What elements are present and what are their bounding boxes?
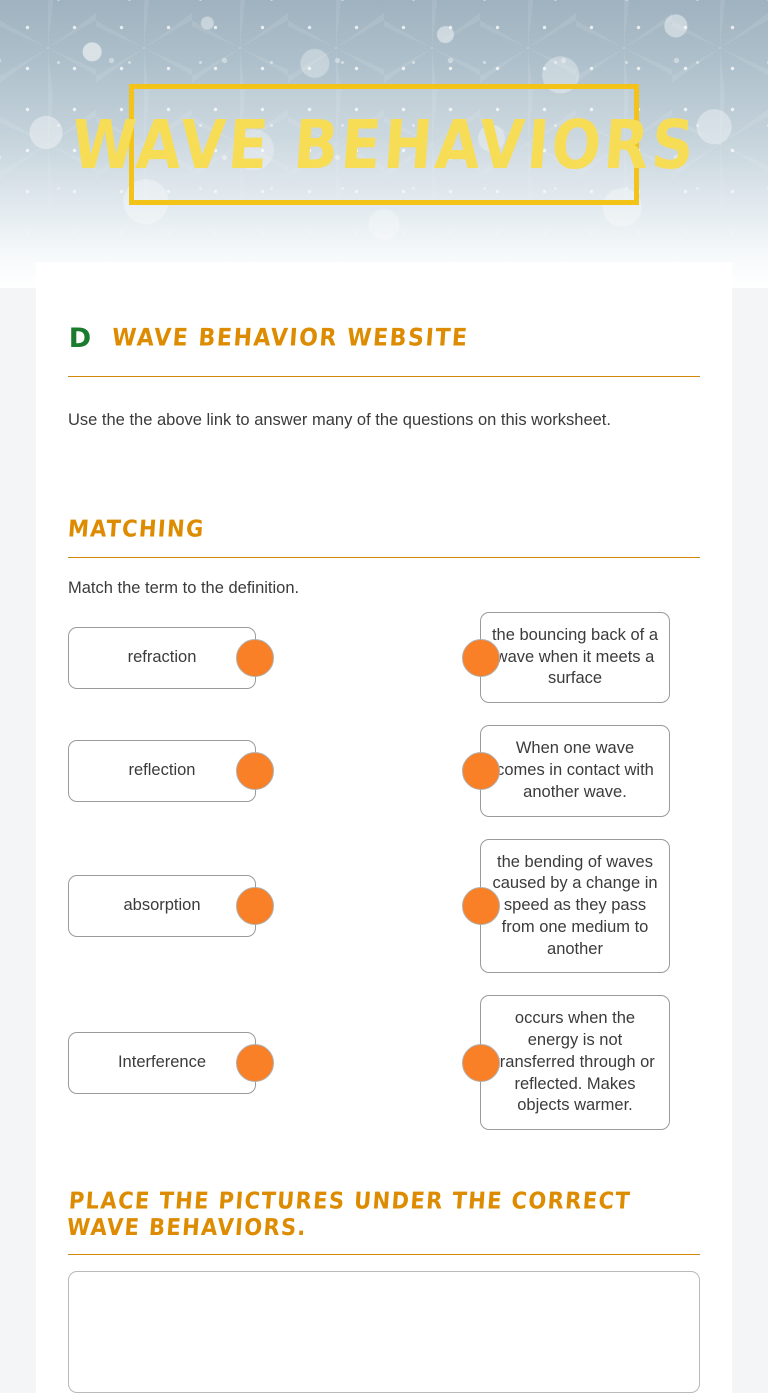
- term-card[interactable]: refraction: [68, 627, 256, 689]
- definition-column: the bending of waves caused by a change …: [480, 839, 700, 974]
- resource-link-divider: [68, 376, 700, 377]
- term-connector-dot[interactable]: [236, 1044, 274, 1082]
- term-connector-dot[interactable]: [236, 639, 274, 677]
- matching-row: reflection When one wave comes in contac…: [68, 725, 700, 816]
- definition-card[interactable]: occurs when the energy is not transferre…: [480, 995, 670, 1130]
- definition-text: the bouncing back of a wave when it meet…: [491, 625, 659, 690]
- term-column: absorption: [68, 875, 368, 937]
- term-label: refraction: [128, 648, 197, 667]
- definition-column: the bouncing back of a wave when it meet…: [480, 612, 700, 703]
- matching-heading: Matching: [67, 516, 701, 542]
- definition-connector-dot[interactable]: [462, 639, 500, 677]
- definition-column: occurs when the energy is not transferre…: [480, 995, 700, 1130]
- term-column: reflection: [68, 740, 368, 802]
- term-column: Interference: [68, 1032, 368, 1094]
- resource-instruction-text: Use the the above link to answer many of…: [68, 409, 700, 433]
- hero-header: Wave Behaviors: [0, 0, 768, 288]
- term-connector-dot[interactable]: [236, 752, 274, 790]
- definition-text: occurs when the energy is not transferre…: [491, 1008, 659, 1117]
- definition-connector-dot[interactable]: [462, 1044, 500, 1082]
- resource-link-title[interactable]: Wave Behavior Website: [111, 324, 469, 352]
- definition-connector-dot[interactable]: [462, 752, 500, 790]
- resource-link-row[interactable]: D Wave Behavior Website: [68, 262, 700, 352]
- definition-connector-dot[interactable]: [462, 887, 500, 925]
- matching-row: absorption the bending of waves caused b…: [68, 839, 700, 974]
- definition-column: When one wave comes in contact with anot…: [480, 725, 700, 816]
- doc-icon-letter: D: [69, 325, 91, 352]
- matching-row: refraction the bouncing back of a wave w…: [68, 612, 700, 703]
- matching-section: Matching Match the term to the definitio…: [68, 517, 700, 1130]
- term-card[interactable]: absorption: [68, 875, 256, 937]
- definition-card[interactable]: the bouncing back of a wave when it meet…: [480, 612, 670, 703]
- definition-card[interactable]: the bending of waves caused by a change …: [480, 839, 670, 974]
- matching-grid: refraction the bouncing back of a wave w…: [68, 612, 700, 1130]
- matching-divider: [68, 557, 700, 558]
- term-card[interactable]: reflection: [68, 740, 256, 802]
- matching-row: Interference occurs when the energy is n…: [68, 995, 700, 1130]
- definition-text: the bending of waves caused by a change …: [491, 852, 659, 961]
- worksheet-title-frame: Wave Behaviors: [129, 84, 639, 205]
- definition-card[interactable]: When one wave comes in contact with anot…: [480, 725, 670, 816]
- term-label: absorption: [123, 896, 200, 915]
- picture-drop-area[interactable]: [68, 1271, 700, 1393]
- pictures-divider: [68, 1254, 700, 1255]
- term-label: Interference: [118, 1053, 206, 1072]
- term-card[interactable]: Interference: [68, 1032, 256, 1094]
- worksheet-sheet: D Wave Behavior Website Use the the abov…: [36, 262, 732, 1393]
- worksheet-title: Wave Behaviors: [69, 111, 698, 178]
- pictures-section: Place the pictures under the correct wav…: [68, 1190, 700, 1393]
- term-column: refraction: [68, 627, 368, 689]
- definition-text: When one wave comes in contact with anot…: [491, 738, 659, 803]
- term-connector-dot[interactable]: [236, 887, 274, 925]
- matching-instruction: Match the term to the definition.: [68, 579, 700, 598]
- term-label: reflection: [129, 761, 196, 780]
- google-docs-d-icon: D: [68, 324, 92, 352]
- pictures-heading: Place the pictures under the correct wav…: [66, 1188, 702, 1241]
